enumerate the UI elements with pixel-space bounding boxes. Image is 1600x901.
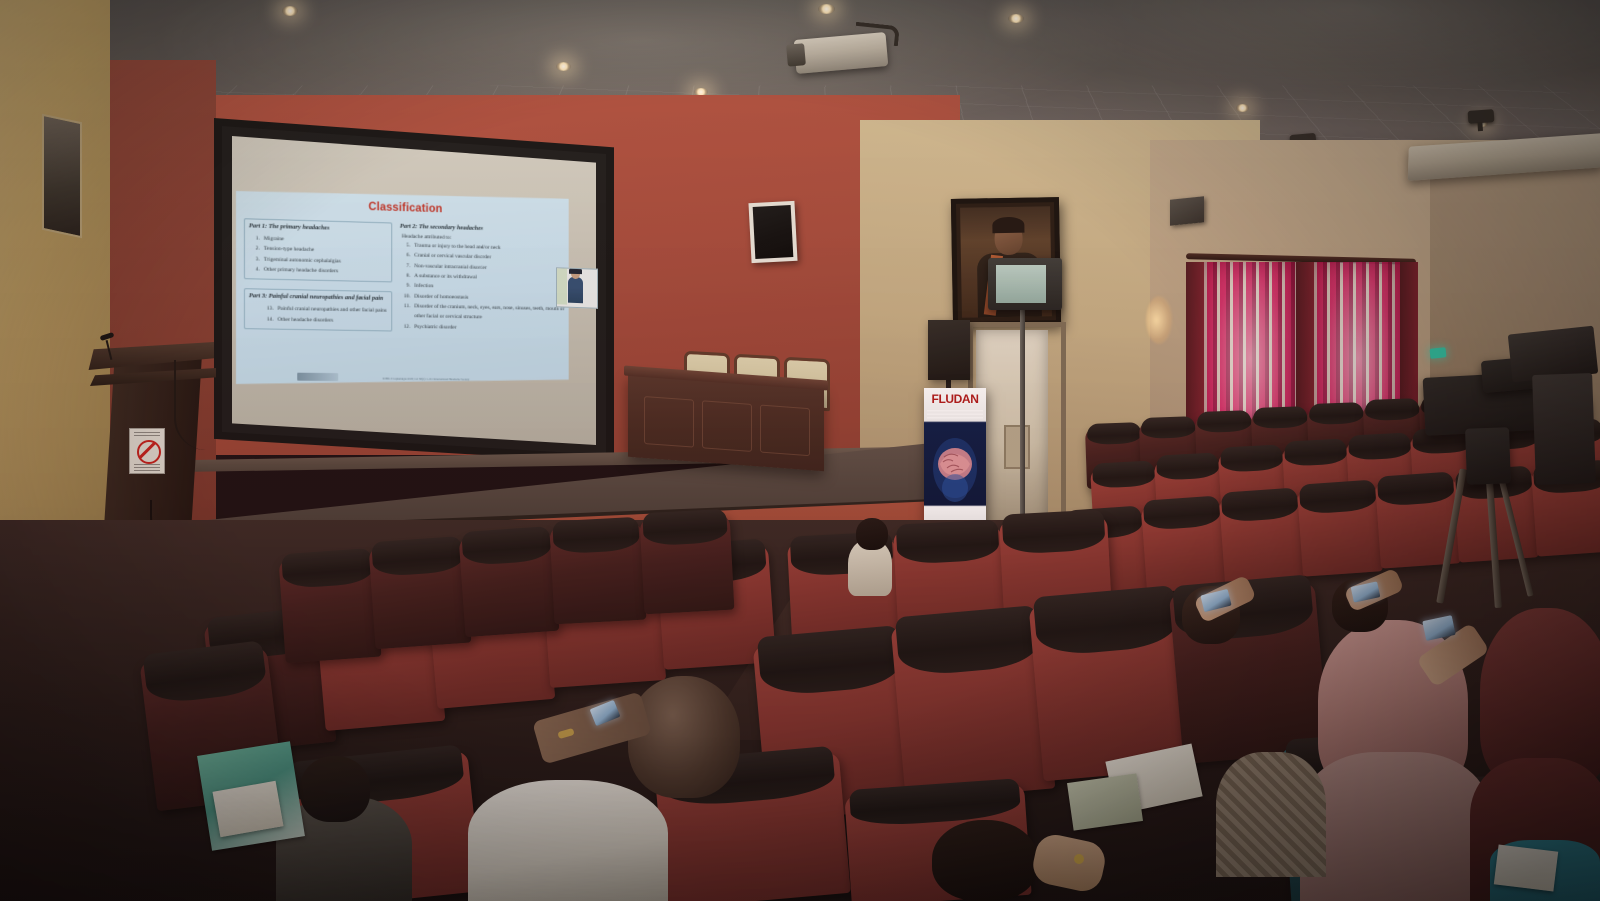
slide-part1-heading: Part 1: The primary headaches <box>249 222 388 234</box>
projected-slide: Classification Part 1: The primary heada… <box>236 188 569 387</box>
slide-column-left: Part 1: The primary headaches 1.Migraine… <box>244 216 392 331</box>
video-call-participant <box>568 277 583 304</box>
slide-part1-box: Part 1: The primary headaches 1.Migraine… <box>244 218 392 283</box>
video-call-tile <box>556 267 598 308</box>
sign-text-line <box>134 467 160 468</box>
audience-person <box>1300 752 1490 901</box>
head-table-panel <box>644 396 694 448</box>
floor-speaker <box>928 320 970 380</box>
camera-indicator-icon <box>1430 347 1447 359</box>
ceiling-downlight <box>556 62 571 71</box>
ceiling-downlight <box>818 4 835 14</box>
seat[interactable] <box>891 614 1056 801</box>
ceiling-downlight <box>1236 104 1249 112</box>
video-light <box>988 258 1062 310</box>
video-call-sidebar <box>557 268 567 304</box>
secondary-camera-body <box>1532 373 1596 485</box>
head-table <box>628 373 824 471</box>
seat[interactable] <box>1219 491 1305 584</box>
seat[interactable] <box>549 522 646 625</box>
wall-sconce-light <box>1146 296 1172 344</box>
camera-head <box>1465 427 1511 485</box>
list-item: 4.Other primary headache disorders <box>249 264 388 277</box>
head-table-panel <box>702 400 752 452</box>
seat[interactable] <box>278 553 381 663</box>
wall-speaker-icon <box>1170 196 1204 226</box>
fludan-banner: FLUDAN <box>924 388 986 538</box>
wall-panel-dark <box>42 114 82 239</box>
sign-text-line <box>134 435 160 436</box>
sign-text-line <box>134 470 160 471</box>
slide-column-right: Part 2: The secondary headaches Headache… <box>400 223 565 335</box>
seat[interactable] <box>1297 483 1383 576</box>
ring-icon <box>1074 854 1084 864</box>
track-light <box>1468 109 1495 124</box>
seat[interactable] <box>640 514 735 615</box>
no-smoking-sign <box>129 428 165 474</box>
slide-logo <box>297 373 338 381</box>
slide-part2-list: 5.Trauma or injury to the head and/or ne… <box>400 240 565 334</box>
ceiling-downlight <box>282 6 298 16</box>
seat[interactable] <box>369 541 472 649</box>
ceiling-downlight <box>1008 14 1024 23</box>
sign-text-line <box>134 432 160 433</box>
sign-text-line <box>134 464 160 465</box>
no-smoking-icon <box>137 440 161 464</box>
slide-footnote: ICHD-3 Cephalalgia 2018; vol 38(1): 1-21… <box>383 377 470 382</box>
head-table-panel <box>760 404 810 456</box>
list-item: 14.Other headache disorders <box>263 314 388 326</box>
audience-head <box>300 756 370 822</box>
paper-sheet <box>1067 773 1143 830</box>
video-light-panel <box>996 265 1046 303</box>
brain-illustration-icon <box>930 428 980 506</box>
seat[interactable] <box>459 531 560 637</box>
audience-head <box>628 676 740 798</box>
seat[interactable] <box>1141 499 1227 592</box>
wall-tv-screen <box>753 205 794 259</box>
banner-tagline <box>927 410 983 419</box>
auditorium-photo: Classification Part 1: The primary heada… <box>0 0 1600 901</box>
list-item: 12.Psychiatric disorder <box>400 322 565 335</box>
portrait-hair <box>992 217 1024 234</box>
door-panel <box>1004 425 1030 469</box>
banner-logo-text: FLUDAN <box>924 392 986 406</box>
audience-person <box>468 780 668 901</box>
slide-part3-heading: Part 3: Painful cranial neuropathies and… <box>249 293 388 304</box>
list-item: 11.Disorder of the cranium, neck, eyes, … <box>400 301 565 324</box>
audience-head <box>932 820 1038 901</box>
paper-sheet <box>1494 844 1558 891</box>
slide-part3-list: 13.Painful cranial neuropathies and othe… <box>263 304 388 327</box>
slide-title: Classification <box>236 197 569 219</box>
audience-head <box>856 518 888 550</box>
audience-person <box>1216 752 1326 877</box>
slide-part1-list: 1.Migraine 2.Tension-type headache 3.Tri… <box>249 233 388 277</box>
slide-part3-box: Part 3: Painful cranial neuropathies and… <box>244 289 392 332</box>
light-stand <box>1020 308 1025 538</box>
